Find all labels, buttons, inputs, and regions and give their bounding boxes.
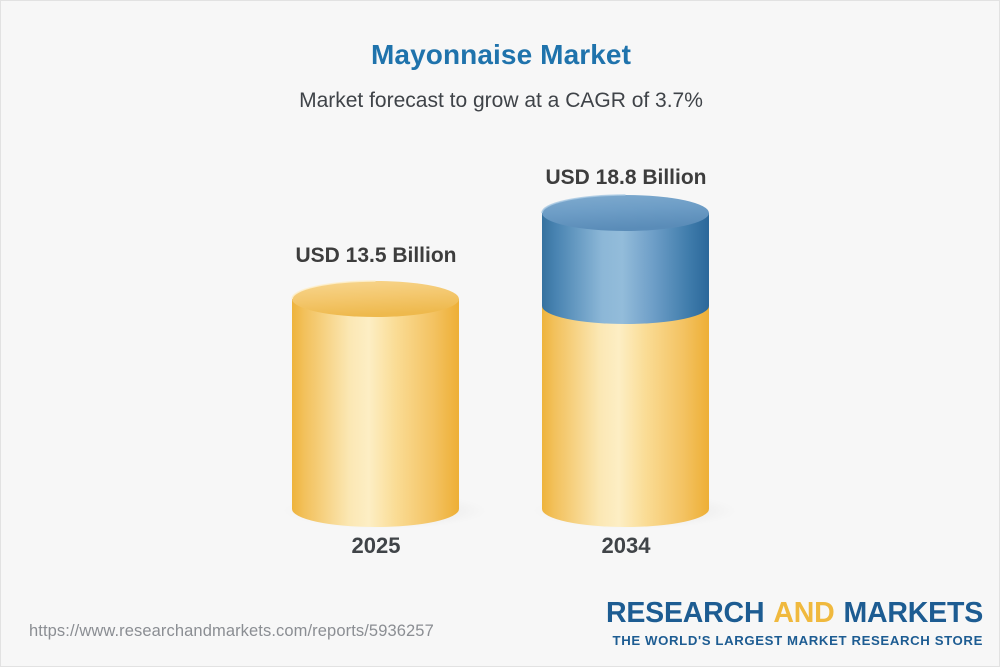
value-label-2034: USD 18.8 Billion: [466, 166, 786, 190]
cylinder-2025: [292, 281, 459, 527]
chart-canvas: Mayonnaise Market Market forecast to gro…: [0, 0, 1000, 667]
logo-tagline: THE WORLD'S LARGEST MARKET RESEARCH STOR…: [606, 634, 983, 647]
cylinder-bar-chart: [1, 1, 1000, 668]
logo-wordmark: RESEARCHANDMARKETS: [606, 599, 983, 628]
source-url[interactable]: https://www.researchandmarkets.com/repor…: [29, 622, 434, 641]
category-label-2034: 2034: [466, 533, 786, 559]
cylinder-2034: [542, 195, 709, 527]
logo-word-research: RESEARCH: [606, 597, 764, 629]
value-label-2025: USD 13.5 Billion: [216, 244, 536, 268]
logo-word-and: AND: [773, 597, 834, 629]
logo-word-markets: MARKETS: [843, 597, 983, 629]
research-and-markets-logo[interactable]: RESEARCHANDMARKETS THE WORLD'S LARGEST M…: [606, 599, 983, 647]
